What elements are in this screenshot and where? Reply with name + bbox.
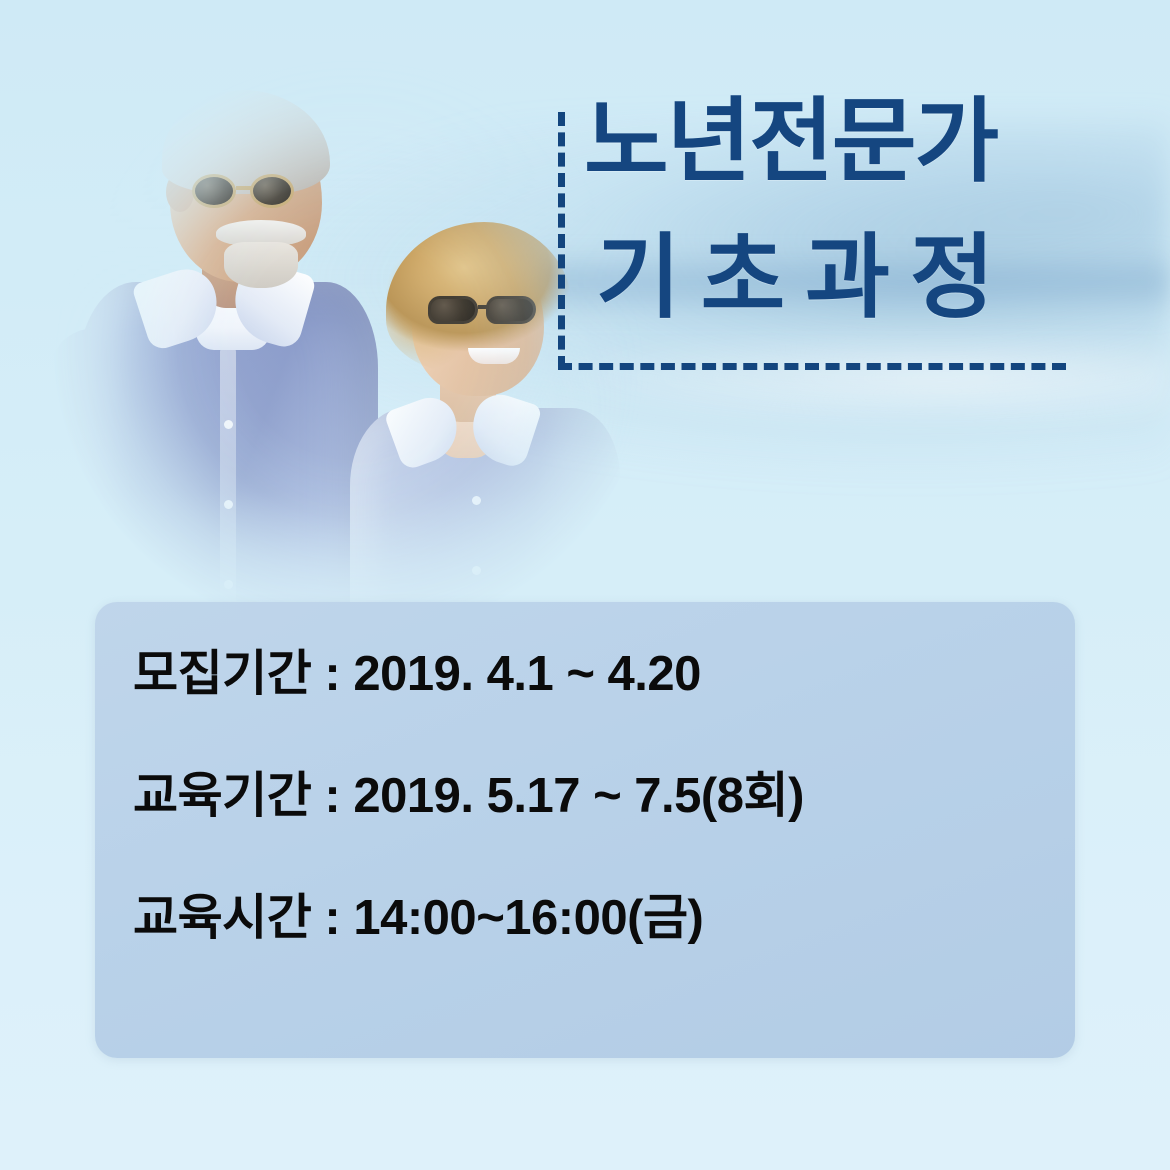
info-row-training-time: 교육시간 : 14:00~16:00(금)	[133, 894, 1047, 943]
promo-poster: 노년전문가 기초과정 모집기간 : 2019. 4.1 ~ 4.20 교육기간 …	[0, 0, 1170, 1170]
title-line-1: 노년전문가	[584, 96, 1054, 190]
course-info-list: 모집기간 : 2019. 4.1 ~ 4.20 교육기간 : 2019. 5.1…	[133, 650, 1047, 943]
info-row-recruitment-period: 모집기간 : 2019. 4.1 ~ 4.20	[133, 650, 1047, 699]
course-info-card: 모집기간 : 2019. 4.1 ~ 4.20 교육기간 : 2019. 5.1…	[95, 602, 1075, 1058]
title-line-2: 기초과정	[596, 232, 1054, 326]
page-title: 노년전문가 기초과정	[584, 96, 1054, 326]
info-row-training-period: 교육기간 : 2019. 5.17 ~ 7.5(8회)	[133, 772, 1047, 821]
